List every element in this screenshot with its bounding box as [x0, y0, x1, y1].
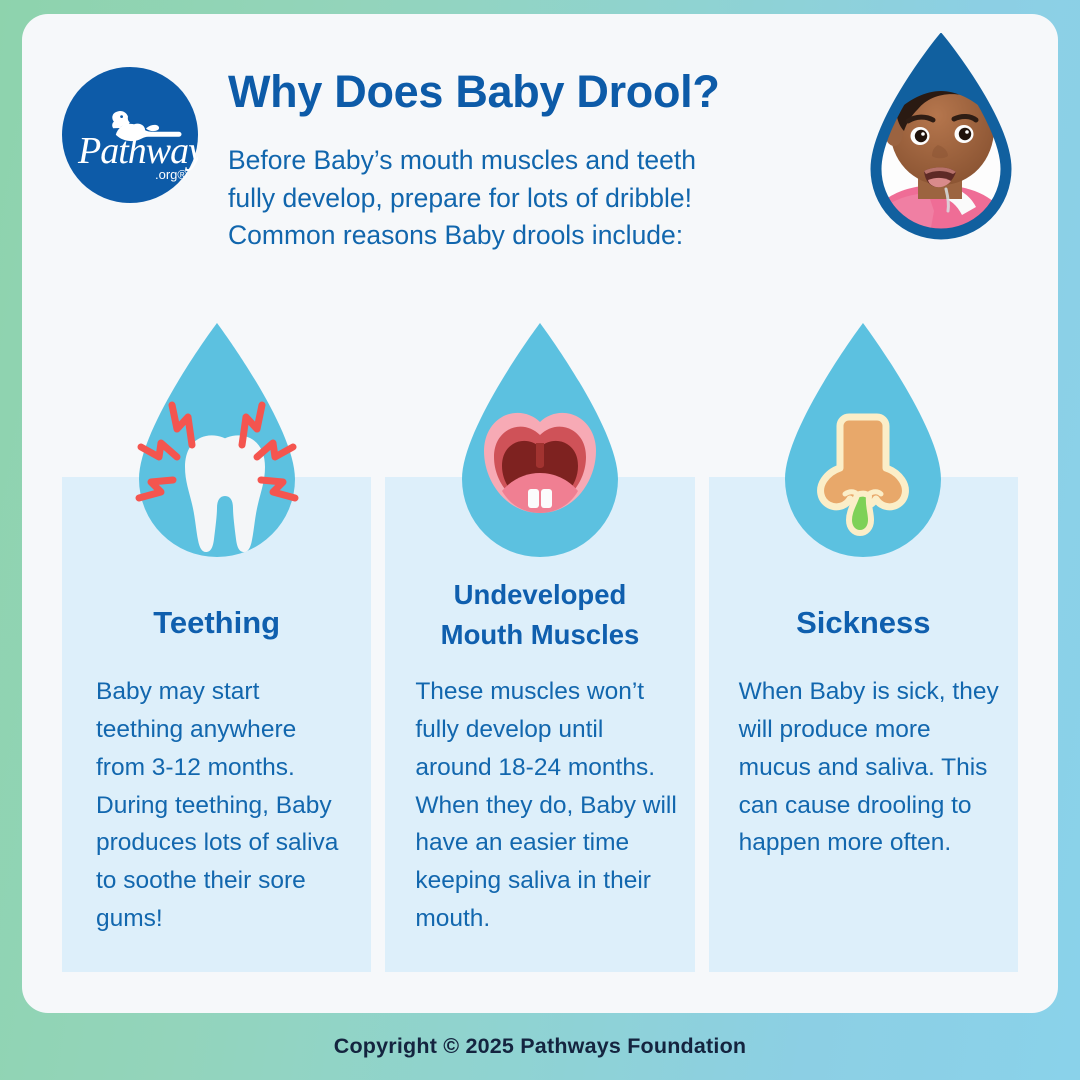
card-heading-line-2: Mouth Muscles [385, 615, 694, 655]
footer: Copyright © 2025 Pathways Foundation [0, 1013, 1080, 1080]
copyright-text: Copyright © 2025 Pathways Foundation [334, 1034, 747, 1059]
intro-line-1: Before Baby’s mouth muscles and teeth [228, 142, 828, 180]
intro-line-3: Common reasons Baby drools include: [228, 217, 828, 255]
intro-line-2: fully develop, prepare for lots of dribb… [228, 180, 828, 218]
svg-text:Pathways: Pathways [77, 130, 198, 172]
reason-columns: Teething Baby may start teething anywher… [62, 477, 1018, 972]
tooth-droplet-icon [129, 317, 305, 567]
open-mouth-droplet-icon [452, 317, 628, 567]
intro-paragraph: Before Baby’s mouth muscles and teeth fu… [228, 142, 828, 255]
reason-card-mouth-muscles: Undeveloped Mouth Muscles These muscles … [385, 477, 694, 972]
card-body-mouth-muscles: These muscles won’t fully develop until … [415, 673, 678, 938]
reason-card-teething: Teething Baby may start teething anywher… [62, 477, 371, 972]
baby-photo-droplet [846, 33, 1036, 257]
card-heading-teething: Teething [62, 601, 371, 646]
card-heading-mouth-muscles: Undeveloped Mouth Muscles [385, 575, 694, 655]
page-title: Why Does Baby Drool? [228, 68, 868, 115]
card-heading-sickness: Sickness [709, 601, 1018, 646]
card-body-sickness: When Baby is sick, they will produce mor… [739, 673, 1000, 862]
card-heading-line-1: Undeveloped [385, 575, 694, 615]
infographic-poster: Pathways .org® Why Does Baby Drool? Befo… [0, 0, 1080, 1080]
runny-nose-droplet-icon [775, 317, 951, 567]
svg-text:.org®: .org® [155, 167, 187, 182]
reason-card-sickness: Sickness When Baby is sick, they will pr… [709, 477, 1018, 972]
pathways-logo: Pathways .org® [62, 67, 198, 203]
card-body-teething: Baby may start teething anywhere from 3-… [96, 673, 343, 938]
